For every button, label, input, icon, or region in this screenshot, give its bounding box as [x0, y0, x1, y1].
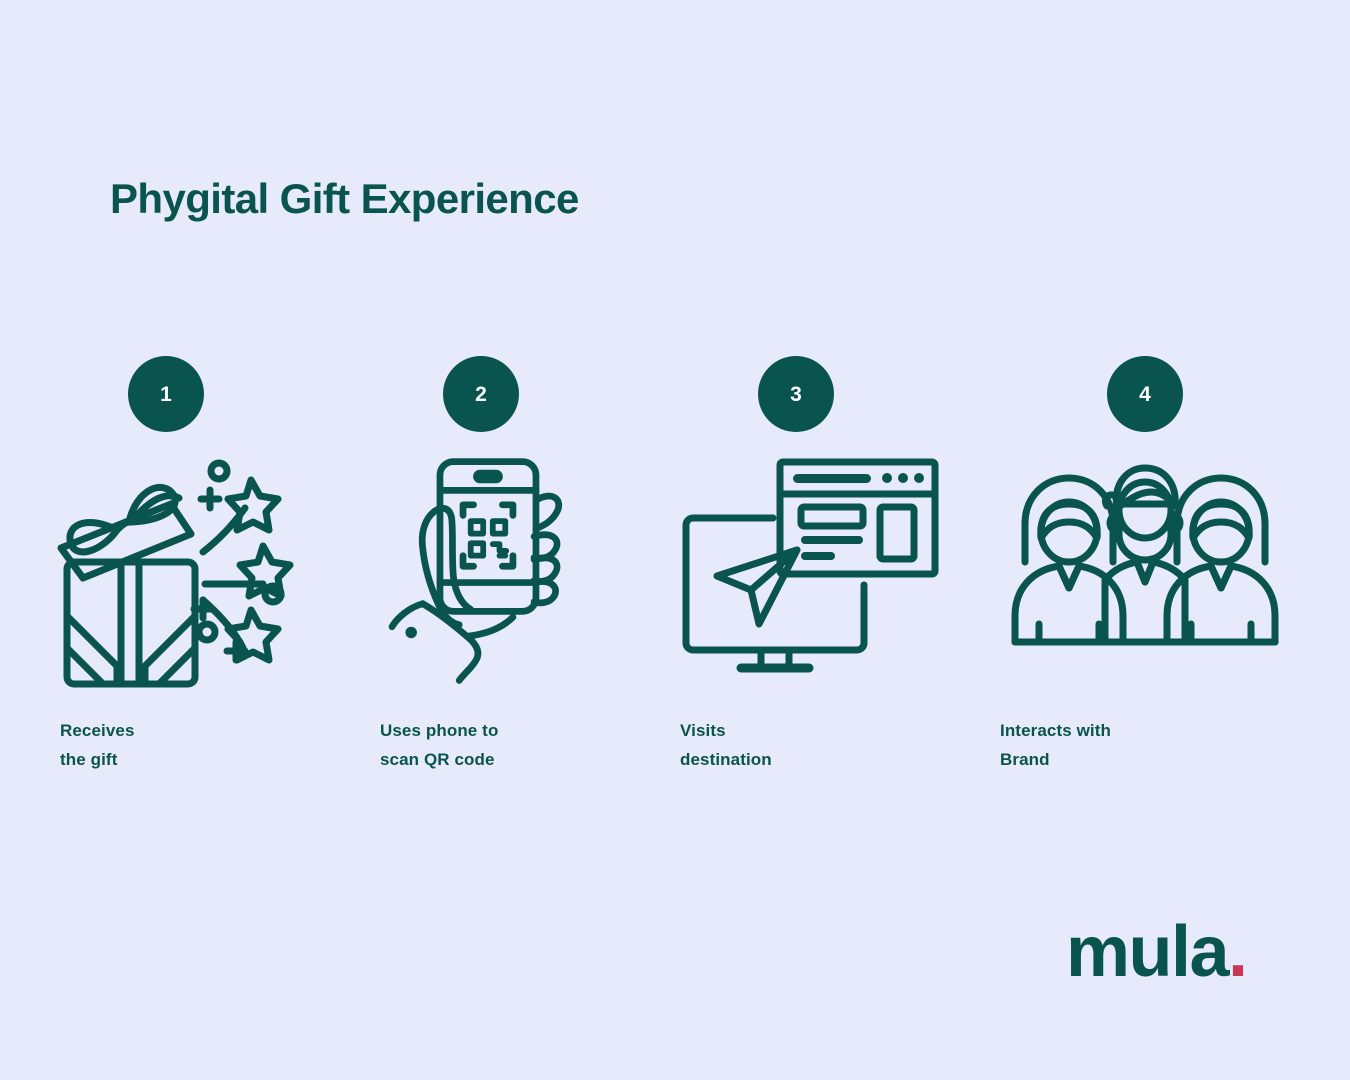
step-item-2: 2	[375, 356, 690, 776]
step-caption-4: Interacts with Brand	[1000, 716, 1111, 774]
people-group-icon	[995, 452, 1295, 692]
caption-line: the gift	[60, 745, 135, 774]
mula-logo: mula .	[1066, 916, 1247, 988]
step-number-badge-1: 1	[128, 356, 204, 432]
step-item-4: 4	[995, 356, 1310, 776]
gift-box-icon	[55, 452, 315, 692]
step-item-1: 1	[55, 356, 370, 776]
logo-wordmark: mula	[1066, 916, 1228, 988]
step-item-3: 3	[675, 356, 990, 776]
logo-dot-icon: .	[1228, 916, 1247, 988]
step-number-badge-2: 2	[443, 356, 519, 432]
step-caption-2: Uses phone to scan QR code	[380, 716, 498, 774]
caption-line: Brand	[1000, 745, 1111, 774]
hand-phone-qr-icon	[380, 452, 595, 692]
caption-line: Receives	[60, 716, 135, 745]
steps-row: 1	[0, 356, 1350, 776]
caption-line: Visits	[680, 716, 772, 745]
caption-line: scan QR code	[380, 745, 498, 774]
step-number-badge-4: 4	[1107, 356, 1183, 432]
page-title: Phygital Gift Experience	[110, 176, 579, 222]
step-caption-1: Receives the gift	[60, 716, 135, 774]
caption-line: Uses phone to	[380, 716, 498, 745]
step-caption-3: Visits destination	[680, 716, 772, 774]
infographic-canvas: Phygital Gift Experience 1	[0, 0, 1350, 1080]
caption-line: destination	[680, 745, 772, 774]
step-number-badge-3: 3	[758, 356, 834, 432]
caption-line: Interacts with	[1000, 716, 1111, 745]
monitor-browser-cursor-icon	[675, 452, 945, 692]
